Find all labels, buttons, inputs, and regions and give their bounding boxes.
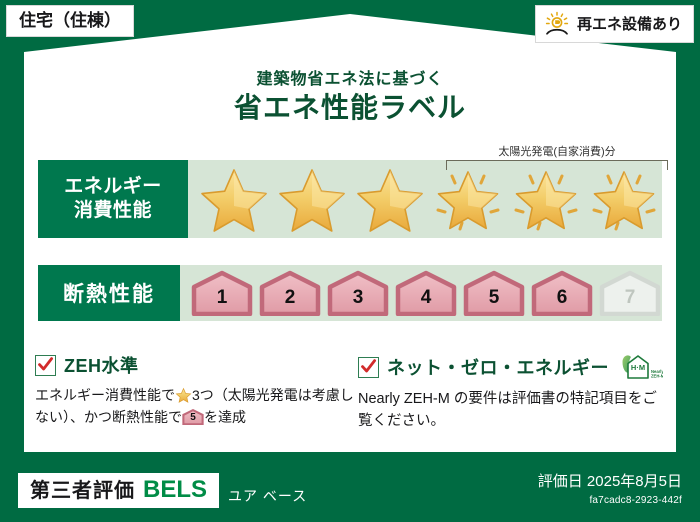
label-footer: 第三者評価 BELS ユア ベース 評価日 2025年8月5日 fa7cadc8… [0,460,700,522]
solar-annotation: 太陽光発電(自家消費)分 [446,146,668,170]
insulation-grade-value: 7 [598,287,662,309]
evaluation-id: fa7cadc8-2923-442f [538,494,682,507]
inline-grade-badge: 5 [182,409,204,425]
star-icon [196,163,272,235]
bels-prefix-label: 第三者評価 [30,481,135,501]
zeh-standard-description: エネルギー消費性能で3つ（太陽光発電は考慮しない）、かつ断熱性能で5を達成 [35,385,355,428]
renewable-equipment-badge: 再エネ設備あり [535,5,694,43]
checkbox-checked-icon [35,355,56,376]
sun-renewable-icon [544,11,570,37]
insulation-grade-badge: 3 [326,270,390,316]
insulation-row-body: 1 2 3 4 [180,265,662,321]
star-icon-solar [508,163,584,235]
insulation-grade-badge: 4 [394,270,458,316]
svg-text:H·M: H·M [631,363,645,372]
energy-row-label-line2: 消費性能 [74,199,152,223]
insulation-grade-badge: 1 [190,270,254,316]
energy-row-label: エネルギー 消費性能 [38,160,188,238]
solar-annotation-bracket [446,160,668,170]
net-zero-heading: ネット・ゼロ・エネルギー [387,354,609,380]
checkbox-checked-icon [358,357,379,378]
zeh-standard-heading: ZEH水準 [64,352,139,378]
star-icon [352,163,428,235]
insulation-performance-row: 断熱性能 1 2 [38,265,662,321]
nearly-zeh-m-logo: H·M Nearly ZEH-M [619,352,663,382]
star-icon-solar [586,163,662,235]
zeh-standard-heading-row: ZEH水準 [35,352,355,378]
net-zero-heading-row: ネット・ゼロ・エネルギー H·M Nearly ZEH-M [358,352,664,382]
energy-performance-label: 住宅（住棟） 再エネ設備あり 建築物省エネ法に基づく 省エネ性能 [0,0,700,522]
star-icon-solar [430,163,506,235]
insulation-grade-value: 2 [258,287,322,309]
evaluation-date: 評価日 2025年8月5日 [538,473,682,491]
insulation-grade-value: 4 [394,287,458,309]
inline-grade-value: 5 [182,413,204,423]
insulation-grade-value: 3 [326,287,390,309]
svg-text:ZEH-M: ZEH-M [651,374,663,379]
evaluation-meta: 評価日 2025年8月5日 fa7cadc8-2923-442f [538,473,682,507]
inline-star-icon [175,387,192,404]
insulation-grade-value: 5 [462,287,526,309]
star-icon [274,163,350,235]
energy-row-label-line1: エネルギー [64,175,162,199]
renewable-badge-label: 再エネ設備あり [577,17,682,32]
insulation-grade-badge: 5 [462,270,526,316]
energy-performance-row: エネルギー 消費性能 [38,160,662,238]
insulation-grade-scale: 1 2 3 4 [180,270,662,316]
insulation-grade-badge: 2 [258,270,322,316]
net-zero-description: Nearly ZEH-M の要件は評価書の特記項目をご覧ください。 [358,389,664,433]
net-zero-energy-block: ネット・ゼロ・エネルギー H·M Nearly ZEH-M Nearly ZEH… [358,352,664,433]
insulation-row-label: 断熱性能 [38,265,180,321]
zeh-desc-part3: を達成 [204,409,246,425]
insulation-grade-badge-inactive: 7 [598,270,662,316]
zeh-desc-part1: エネルギー消費性能で [35,387,175,403]
label-title: 省エネ性能ラベル [0,86,700,126]
energy-row-body: 太陽光発電(自家消費)分 [188,160,662,238]
star-rating [188,163,662,235]
insulation-grade-badge: 6 [530,270,594,316]
insulation-grade-value: 1 [190,287,254,309]
bels-certification-box: 第三者評価 BELS [18,473,219,508]
building-type-tag: 住宅（住棟） [6,5,134,37]
bels-name-label: BELS [143,478,207,502]
vendor-name: ユア ベース [228,486,307,506]
zeh-standard-block: ZEH水準 エネルギー消費性能で3つ（太陽光発電は考慮しない）、かつ断熱性能で5… [35,352,355,428]
insulation-grade-value: 6 [530,287,594,309]
solar-annotation-label: 太陽光発電(自家消費)分 [446,146,668,158]
